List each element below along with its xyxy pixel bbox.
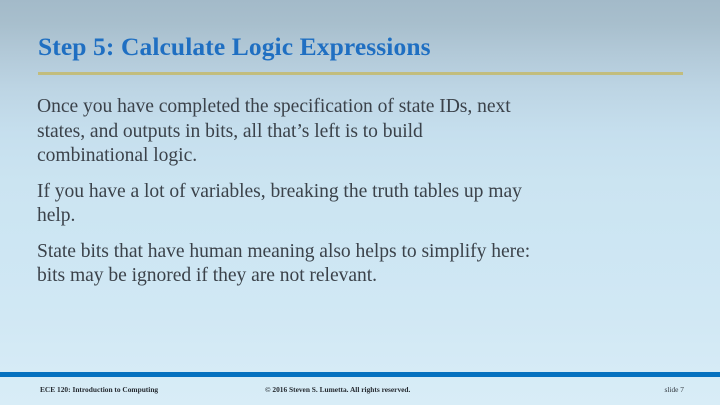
page-title: Step 5: Calculate Logic Expressions [38,32,684,62]
body-paragraph-2: If you have a lot of variables, breaking… [37,180,537,229]
title-underline-rule [38,72,683,75]
slide-body: Once you have completed the specificatio… [37,95,537,289]
slide-footer: ECE 120: Introduction to Computing © 201… [0,377,720,405]
body-paragraph-1: Once you have completed the specificatio… [37,95,537,169]
title-area: Step 5: Calculate Logic Expressions [38,32,684,62]
body-paragraph-3: State bits that have human meaning also … [37,240,537,289]
slide-canvas: Step 5: Calculate Logic Expressions Once… [0,0,720,405]
footer-copyright-label: © 2016 Steven S. Lumetta. All rights res… [265,385,410,395]
footer-course-label: ECE 120: Introduction to Computing [40,385,158,395]
footer-slide-number: slide 7 [664,385,684,395]
